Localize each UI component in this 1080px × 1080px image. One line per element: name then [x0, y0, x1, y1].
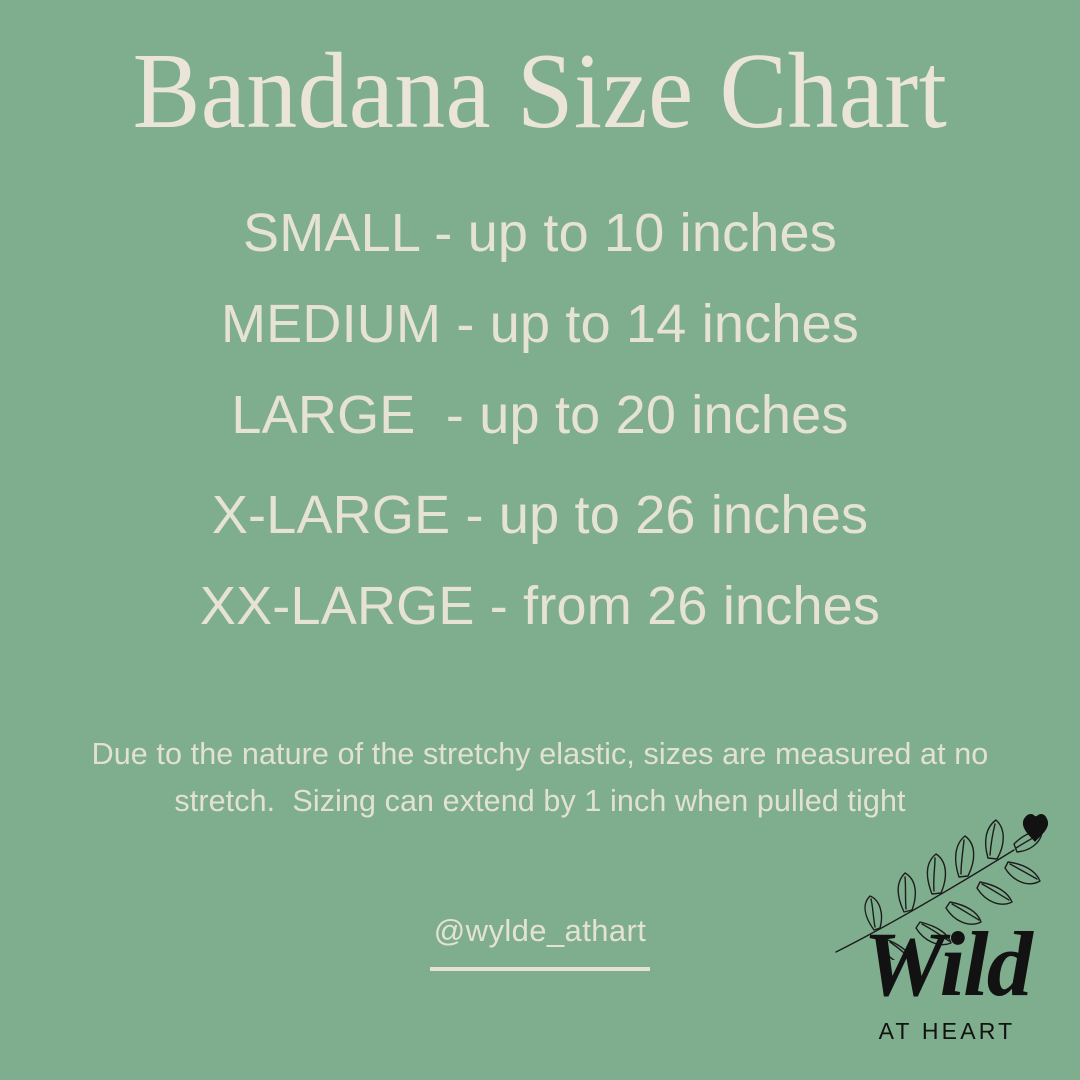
brand-logo: Wild AT HEART	[828, 800, 1080, 1080]
list-item: XX-LARGE - from 26 inches	[0, 561, 1080, 652]
list-item: SMALL - up to 10 inches	[0, 188, 1080, 279]
size-chart-graphic: Bandana Size Chart SMALL - up to 10 inch…	[0, 0, 1080, 1080]
logo-wordmark: Wild	[828, 918, 1066, 1010]
divider	[430, 967, 650, 971]
logo-tagline: AT HEART	[828, 1018, 1066, 1045]
list-item: MEDIUM - up to 14 inches	[0, 279, 1080, 370]
size-list: SMALL - up to 10 inches MEDIUM - up to 1…	[0, 188, 1080, 652]
list-item: LARGE - up to 20 inches	[0, 370, 1080, 461]
page-title: Bandana Size Chart	[32, 38, 1047, 146]
list-item: X-LARGE - up to 26 inches	[0, 470, 1080, 561]
